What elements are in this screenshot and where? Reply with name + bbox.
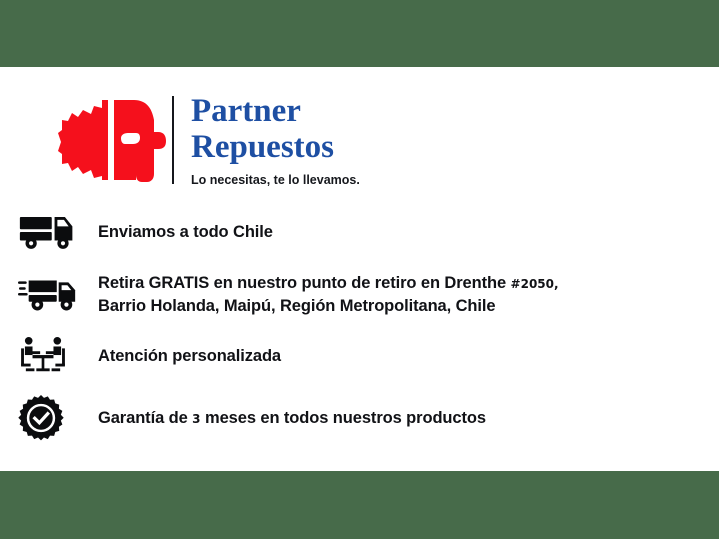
gear-car-split-icon (58, 92, 166, 188)
feature-row-guarantee: Garantía de 3 meses en todos nuestros pr… (18, 392, 708, 444)
guarantee-badge-check-icon (18, 395, 82, 441)
feature-list: Enviamos a todo Chile (18, 206, 708, 454)
pickup-text-line-1: Retira GRATIS en nuestro punto de retiro… (98, 274, 511, 292)
brand-name-line-1: Partner (191, 93, 360, 129)
guarantee-text-prefix: Garantía de (98, 409, 192, 427)
top-green-band (0, 0, 719, 67)
feature-label-guarantee: Garantía de 3 meses en todos nuestros pr… (98, 407, 486, 430)
pickup-street-number: #2050, (511, 277, 559, 291)
delivery-truck-icon (18, 213, 82, 251)
pickup-text-line-2: Barrio Holanda, Maipú, Región Metropolit… (98, 297, 495, 315)
feature-row-shipping: Enviamos a todo Chile (18, 206, 708, 258)
brand-name-line-2: Repuestos (191, 129, 360, 165)
logo-divider (172, 96, 174, 184)
feature-label-pickup: Retira GRATIS en nuestro punto de retiro… (98, 272, 559, 317)
bottom-green-band (0, 471, 719, 539)
feature-row-pickup: Retira GRATIS en nuestro punto de retiro… (18, 268, 708, 320)
brand-tagline: Lo necesitas, te lo llevamos. (191, 172, 360, 188)
guarantee-text-suffix: meses en todos nuestros productos (201, 409, 486, 427)
brand-wordmark: Partner Repuestos Lo necesitas, te lo ll… (191, 93, 360, 188)
moving-truck-icon (18, 274, 82, 314)
feature-label-shipping: Enviamos a todo Chile (98, 221, 273, 243)
brand-logo: Partner Repuestos Lo necesitas, te lo ll… (58, 92, 360, 188)
feature-label-attention: Atención personalizada (98, 345, 281, 367)
promo-banner: Partner Repuestos Lo necesitas, te lo ll… (0, 0, 719, 539)
guarantee-months-count: 3 (192, 412, 200, 426)
meeting-table-icon (18, 336, 82, 376)
feature-row-attention: Atención personalizada (18, 330, 708, 382)
